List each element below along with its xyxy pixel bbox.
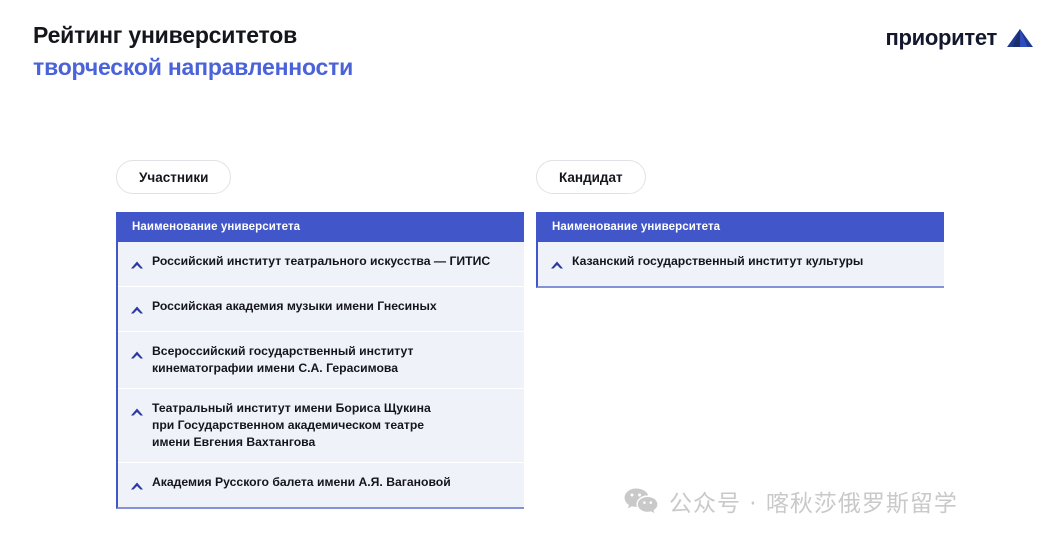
table-row[interactable]: Российский институт театрального искусст… — [118, 242, 524, 287]
table-row-label: Академия Русского балета имени А.Я. Вага… — [152, 474, 451, 491]
chevron-up-bullet-icon — [130, 478, 144, 496]
column-candidate: Кандидат Наименование университета Казан… — [536, 160, 944, 288]
table-candidate: Наименование университета Казанский госу… — [536, 212, 944, 288]
wechat-watermark-text: 公众号 · 喀秋莎俄罗斯留学 — [669, 484, 958, 518]
table-row[interactable]: Театральный институт имени Бориса Щукина… — [118, 389, 524, 463]
chevron-up-bullet-icon — [130, 404, 144, 422]
chevron-up-mark-icon — [1006, 27, 1034, 49]
table-row[interactable]: Казанский государственный институт культ… — [538, 242, 944, 286]
brand-name: приоритет — [886, 25, 997, 51]
chevron-up-bullet-icon — [130, 347, 144, 365]
page-title-line-1: Рейтинг университетов — [33, 20, 353, 50]
chevron-up-bullet-icon — [130, 257, 144, 275]
page-title-line-2: творческой направленности — [33, 52, 353, 82]
table-row-label: Российский институт театрального искусст… — [152, 253, 490, 270]
wechat-icon — [624, 487, 658, 515]
page-header: Рейтинг университетов творческой направл… — [0, 0, 1064, 100]
table-row-label: Театральный институт имени Бориса Щукина… — [152, 400, 431, 451]
table-row[interactable]: Академия Русского балета имени А.Я. Вага… — [118, 463, 524, 507]
table-row[interactable]: Российская академия музыки имени Гнесины… — [118, 287, 524, 332]
tab-participants[interactable]: Участники — [116, 160, 231, 194]
table-participants: Наименование университета Российский инс… — [116, 212, 524, 509]
table-header-university-name: Наименование университета — [538, 212, 944, 242]
chevron-up-bullet-icon — [550, 257, 564, 275]
chevron-up-bullet-icon — [130, 302, 144, 320]
brand-logo: приоритет — [886, 25, 1034, 51]
table-row[interactable]: Всероссийский государственный институт к… — [118, 332, 524, 389]
table-row-label: Всероссийский государственный институт к… — [152, 343, 413, 377]
tab-row-candidate: Кандидат — [536, 160, 944, 212]
table-row-label: Казанский государственный институт культ… — [572, 253, 863, 270]
table-row-label: Российская академия музыки имени Гнесины… — [152, 298, 437, 315]
tab-row-participants: Участники — [116, 160, 524, 212]
wechat-watermark: 公众号 · 喀秋莎俄罗斯留学 — [624, 484, 958, 518]
column-participants: Участники Наименование университета Росс… — [116, 160, 524, 509]
table-header-university-name: Наименование университета — [118, 212, 524, 242]
tab-candidate[interactable]: Кандидат — [536, 160, 646, 194]
page-title: Рейтинг университетов творческой направл… — [33, 20, 353, 82]
